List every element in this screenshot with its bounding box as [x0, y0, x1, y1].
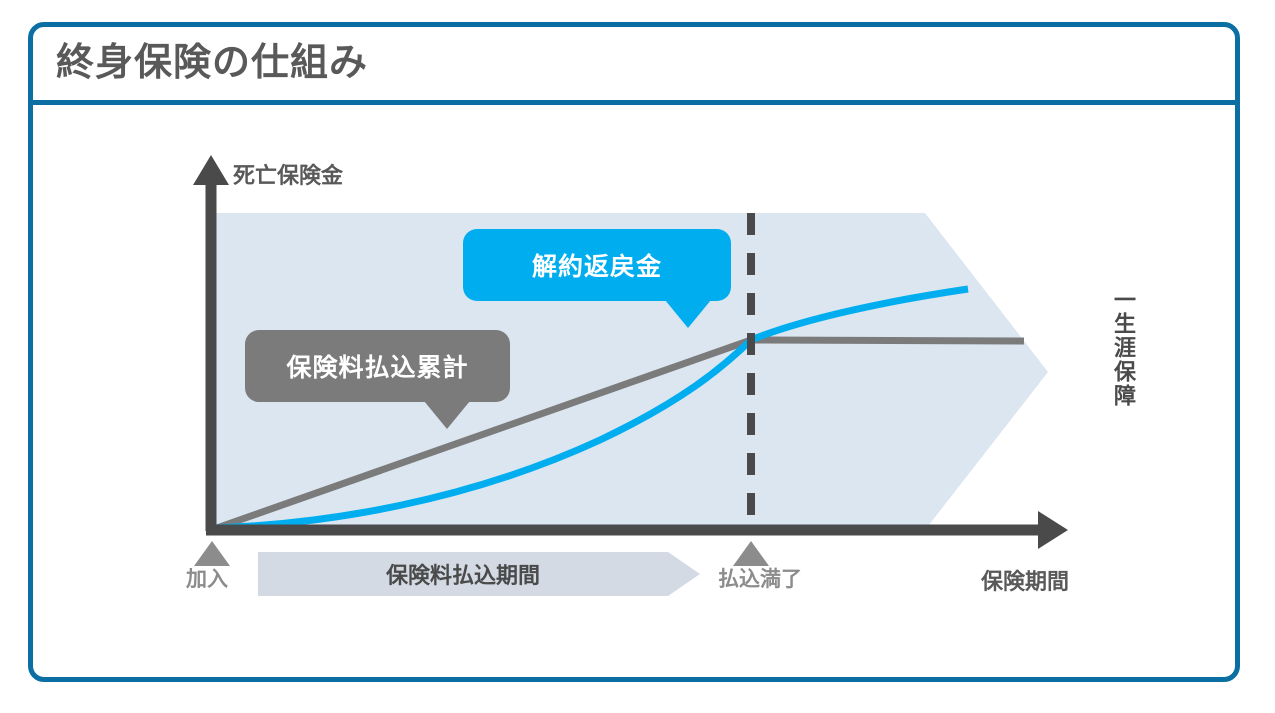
y-axis-label: 死亡保険金	[233, 158, 343, 190]
payment-period-label: 保険料払込期間	[258, 552, 668, 596]
paid-up-label: 払込満了	[718, 563, 802, 593]
x-axis-label: 保険期間	[981, 564, 1069, 596]
lifetime-coverage-label: 一生涯保障	[1108, 288, 1138, 408]
callout-premium-tail	[424, 401, 470, 429]
callout-surrender-value[interactable]: 解約返戻金	[463, 229, 731, 301]
callout-cumulative-premium[interactable]: 保険料払込累計	[245, 330, 510, 402]
chart-canvas	[0, 0, 1275, 713]
enrollment-label: 加入	[186, 563, 228, 593]
callout-surrender-tail	[665, 300, 711, 328]
diagram-root: 終身保険の仕組み 解約返戻金 保険料払込累計 死亡保険金 保険期間 一生涯保障 …	[0, 0, 1275, 713]
x-axis-arrowhead	[1038, 511, 1068, 549]
y-axis-arrowhead	[193, 155, 229, 185]
